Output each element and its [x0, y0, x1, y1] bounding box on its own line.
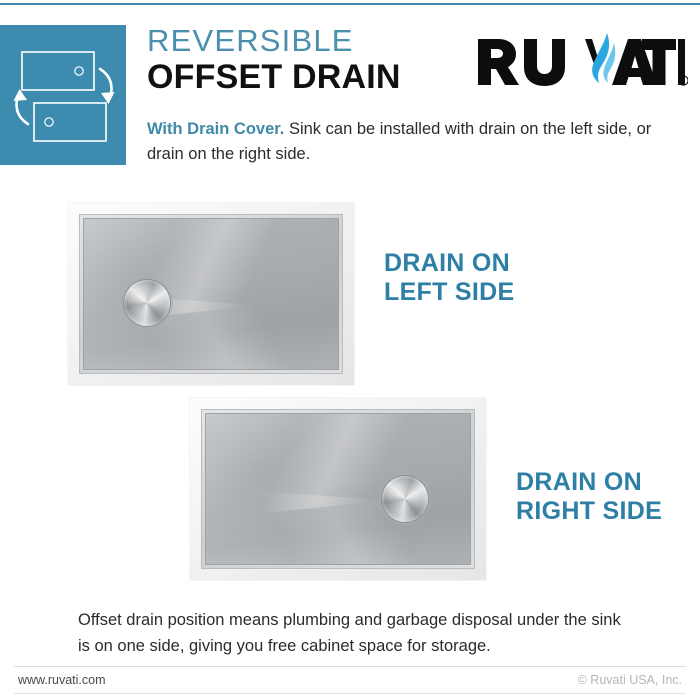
- footer-copyright: © Ruvati USA, Inc.: [578, 673, 682, 687]
- top-accent-rule: [0, 3, 700, 5]
- drain-cover-right: [382, 476, 428, 522]
- infographic-page: REVERSIBLE OFFSET DRAIN: [0, 0, 700, 700]
- basin-highlight-lower-left: [83, 290, 339, 370]
- callout-drain-left: DRAIN ON LEFT SIDE: [384, 249, 514, 307]
- footer-website[interactable]: www.ruvati.com: [18, 673, 106, 687]
- sink-basin-right: [205, 413, 471, 565]
- ruvati-logo: R: [476, 33, 688, 91]
- subheading: With Drain Cover. Sink can be installed …: [147, 117, 692, 167]
- callout-right-line2: RIGHT SIDE: [516, 497, 662, 526]
- footer-divider: [14, 666, 686, 667]
- header-titles: REVERSIBLE OFFSET DRAIN: [147, 25, 477, 95]
- drain-cover-left: [124, 280, 170, 326]
- sink-drain-right: [190, 398, 486, 580]
- sink-basin-left: [83, 218, 339, 370]
- sink-rim-right: [201, 409, 475, 569]
- kicker-title: REVERSIBLE: [147, 25, 477, 57]
- sink-rim-left: [79, 214, 343, 374]
- callout-right-line1: DRAIN ON: [516, 468, 662, 497]
- header: REVERSIBLE OFFSET DRAIN: [0, 25, 700, 173]
- bottom-caption: Offset drain position means plumbing and…: [78, 608, 628, 659]
- svg-text:R: R: [681, 79, 685, 85]
- basin-highlight-upper-right: [205, 413, 471, 520]
- callout-drain-right: DRAIN ON RIGHT SIDE: [516, 468, 662, 526]
- subheading-lead: With Drain Cover.: [147, 120, 284, 138]
- callout-left-line1: DRAIN ON: [384, 249, 514, 278]
- page-title: OFFSET DRAIN: [147, 59, 477, 96]
- callout-left-line2: LEFT SIDE: [384, 278, 514, 307]
- reversible-sink-rotation-icon: [0, 25, 126, 165]
- footer-divider-bottom: [14, 693, 686, 694]
- sink-drain-left: [68, 203, 354, 385]
- basin-highlight-lower-right: [205, 485, 471, 565]
- basin-highlight-upper-left: [83, 218, 339, 325]
